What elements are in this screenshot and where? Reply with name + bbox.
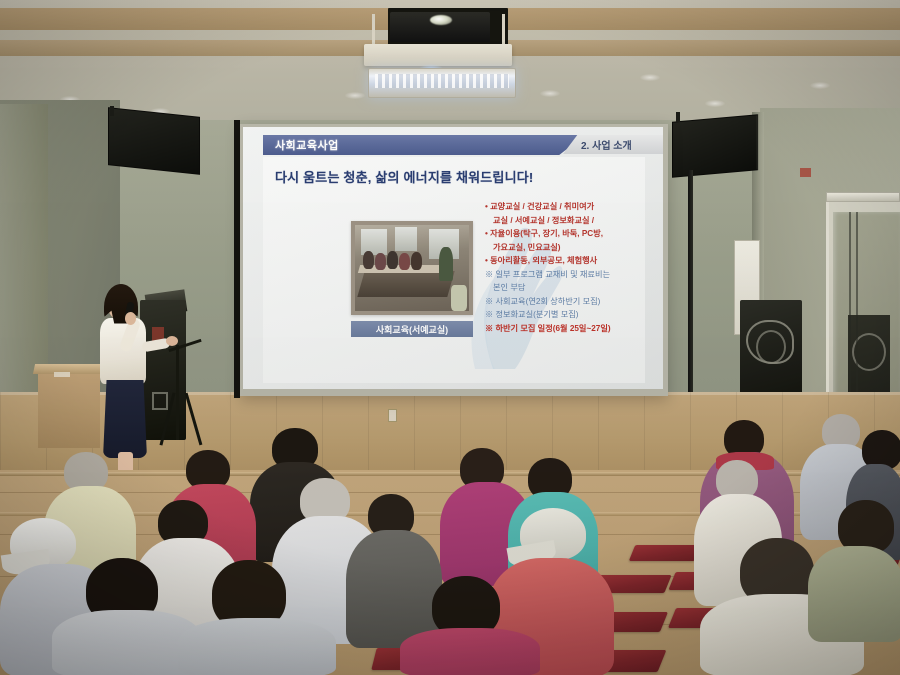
photo-window (395, 227, 417, 251)
podium-paper (54, 372, 70, 377)
presenter-hand (125, 312, 136, 325)
speaker-support-pole (688, 170, 693, 410)
slide-photo-caption: 사회교육(서예교실) (351, 321, 473, 337)
photo-attendee (411, 252, 422, 270)
ceiling-speaker-right (672, 114, 758, 178)
projector-lens-icon (430, 15, 452, 25)
slide-schedule-note: ※ 하반기 모집 일정(6월 25일~27일) (485, 323, 645, 335)
slide-note: 본인 부담 (485, 282, 645, 294)
slide-bullet: • 자율이용(탁구, 장기, 바둑, PC방, (485, 228, 645, 240)
photo-instructor (439, 247, 453, 281)
slide-subtitle: 다시 움트는 청춘, 삶의 에너지를 채워드립니다! (275, 167, 533, 186)
wooden-podium (38, 368, 100, 448)
ceiling-speaker-left (108, 107, 200, 175)
av-equipment-rack (140, 300, 186, 440)
slide-bullet: • 동아리활동, 외부공모, 체험행사 (485, 255, 645, 267)
photo-attendee (363, 251, 374, 269)
presenter-hand-extended (166, 336, 178, 346)
wall-outlet (388, 409, 397, 422)
photo-foreground (451, 285, 467, 311)
ceiling-downlight (705, 100, 725, 107)
presenter-torso (100, 318, 146, 384)
lecture-hall-scene: 사회교육사업 2. 사업 소개 다시 움트는 청춘, 삶의 에너지를 채워드립니… (0, 0, 900, 675)
photo-attendee (375, 253, 386, 270)
ceiling-downlight (345, 92, 365, 99)
speaker-bracket-left (110, 106, 114, 116)
mirror-top-rail (826, 192, 900, 202)
projector-mount-plate (364, 44, 512, 66)
photo-attendee (387, 251, 398, 269)
exit-sign-icon (800, 168, 811, 177)
slide-header: 사회교육사업 2. 사업 소개 (263, 135, 643, 155)
slide-bullet: • 교양교실 / 건강교실 / 취미여가 (485, 201, 645, 213)
slide-note: ※ 정보화교실(분기별 모집) (485, 309, 645, 321)
ceiling-downlight (640, 74, 660, 81)
presentation-slide: 사회교육사업 2. 사업 소개 다시 움트는 청춘, 삶의 에너지를 채워드립니… (243, 127, 663, 389)
photo-attendee (399, 253, 410, 270)
podium-top-surface (33, 364, 107, 374)
speaker-cable-coil-inner (756, 330, 786, 364)
ceiling-downlight (540, 90, 560, 97)
av-panel (152, 392, 168, 410)
microphone-stand (176, 345, 179, 440)
slide-bullet: 교실 / 서예교실 / 정보화교실 / (485, 215, 645, 227)
floor-cushion-mat (629, 545, 701, 561)
slide-photo (355, 225, 469, 311)
slide-note: ※ 사회교육(연2회 상하반기 모집) (485, 296, 645, 308)
speaker-bracket-right (676, 112, 680, 122)
presenter-skirt (103, 380, 147, 458)
slide-bullet-list: • 교양교실 / 건강교실 / 취미여가 교실 / 서예교실 / 정보화교실 /… (485, 201, 645, 336)
ceiling-downlight (810, 82, 830, 89)
slide-photo-frame (351, 221, 473, 315)
slide-bullet: 가요교실, 민요교실) (485, 242, 645, 254)
ceiling-light-fixture (368, 68, 516, 98)
slide-note: ※ 일부 프로그램 교재비 및 재료비는 (485, 269, 645, 281)
slide-section-label: 2. 사업 소개 (581, 137, 632, 152)
projection-screen: 사회교육사업 2. 사업 소개 다시 움트는 청춘, 삶의 에너지를 채워드립니… (243, 127, 663, 389)
slide-title: 사회교육사업 (275, 137, 339, 153)
